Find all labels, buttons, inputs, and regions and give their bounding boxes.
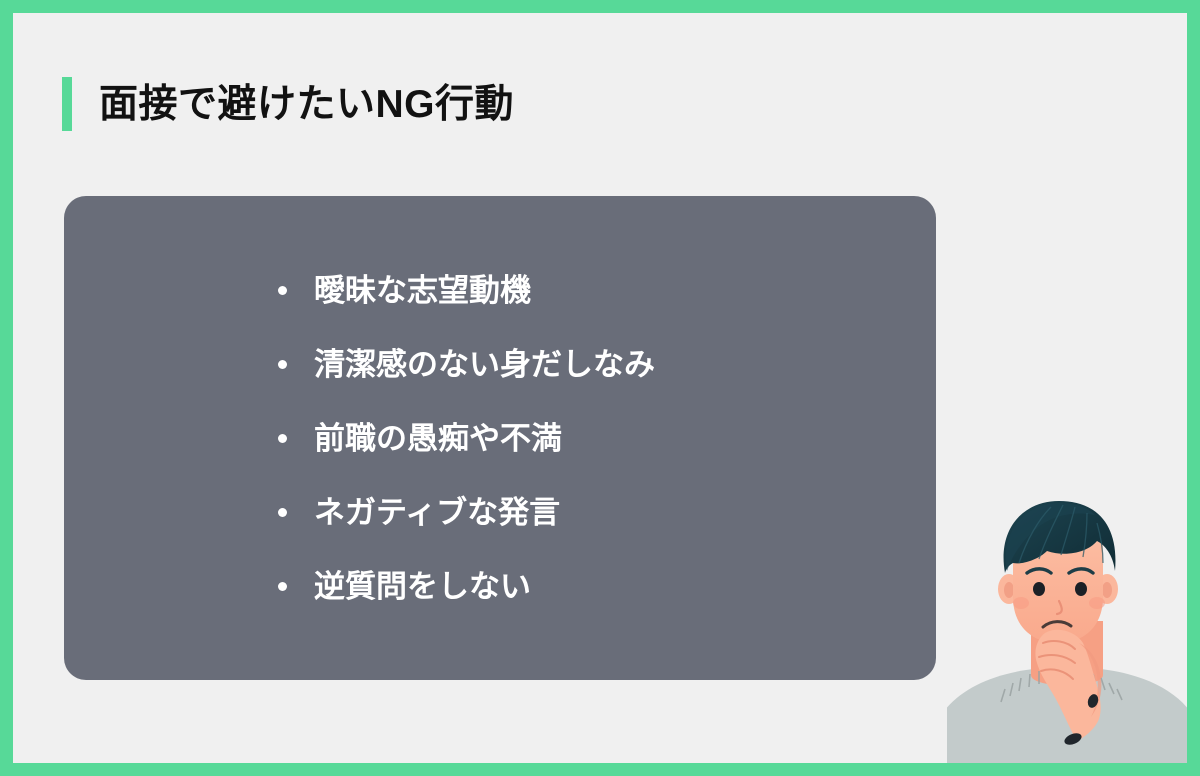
bullet-icon xyxy=(278,434,287,443)
bullet-icon xyxy=(278,360,287,369)
list-item-label: ネガティブな発言 xyxy=(314,497,560,528)
page-title: 面接で避けたいNG行動 xyxy=(62,76,514,132)
list-item-label: 逆質問をしない xyxy=(314,571,531,602)
ng-behavior-card: 曖昧な志望動機 清潔感のない身だしなみ 前職の愚痴や不満 ネガティブな発言 逆質… xyxy=(64,196,936,680)
right-eye xyxy=(1075,582,1087,596)
slide-frame: 面接で避けたいNG行動 曖昧な志望動機 清潔感のない身だしなみ 前職の愚痴や不満 xyxy=(0,0,1200,776)
slide-content-area: 面接で避けたいNG行動 曖昧な志望動機 清潔感のない身だしなみ 前職の愚痴や不満 xyxy=(13,13,1187,763)
list-item-label: 清潔感のない身だしなみ xyxy=(314,349,655,380)
thinking-man-illustration xyxy=(947,493,1187,763)
list-item: 逆質問をしない xyxy=(278,549,912,623)
ng-behavior-list: 曖昧な志望動機 清潔感のない身だしなみ 前職の愚痴や不満 ネガティブな発言 逆質… xyxy=(64,196,936,680)
list-item: 曖昧な志望動機 xyxy=(278,253,912,327)
left-eye xyxy=(1033,582,1045,596)
title-accent-bar xyxy=(62,77,72,131)
bullet-icon xyxy=(278,286,287,295)
list-item-label: 前職の愚痴や不満 xyxy=(314,423,562,454)
list-item-label: 曖昧な志望動機 xyxy=(314,275,531,306)
list-item: ネガティブな発言 xyxy=(278,475,912,549)
list-item: 前職の愚痴や不満 xyxy=(278,401,912,475)
bullet-icon xyxy=(278,582,287,591)
page-title-text: 面接で避けたいNG行動 xyxy=(99,85,514,124)
list-item: 清潔感のない身だしなみ xyxy=(278,327,912,401)
bullet-icon xyxy=(278,508,287,517)
